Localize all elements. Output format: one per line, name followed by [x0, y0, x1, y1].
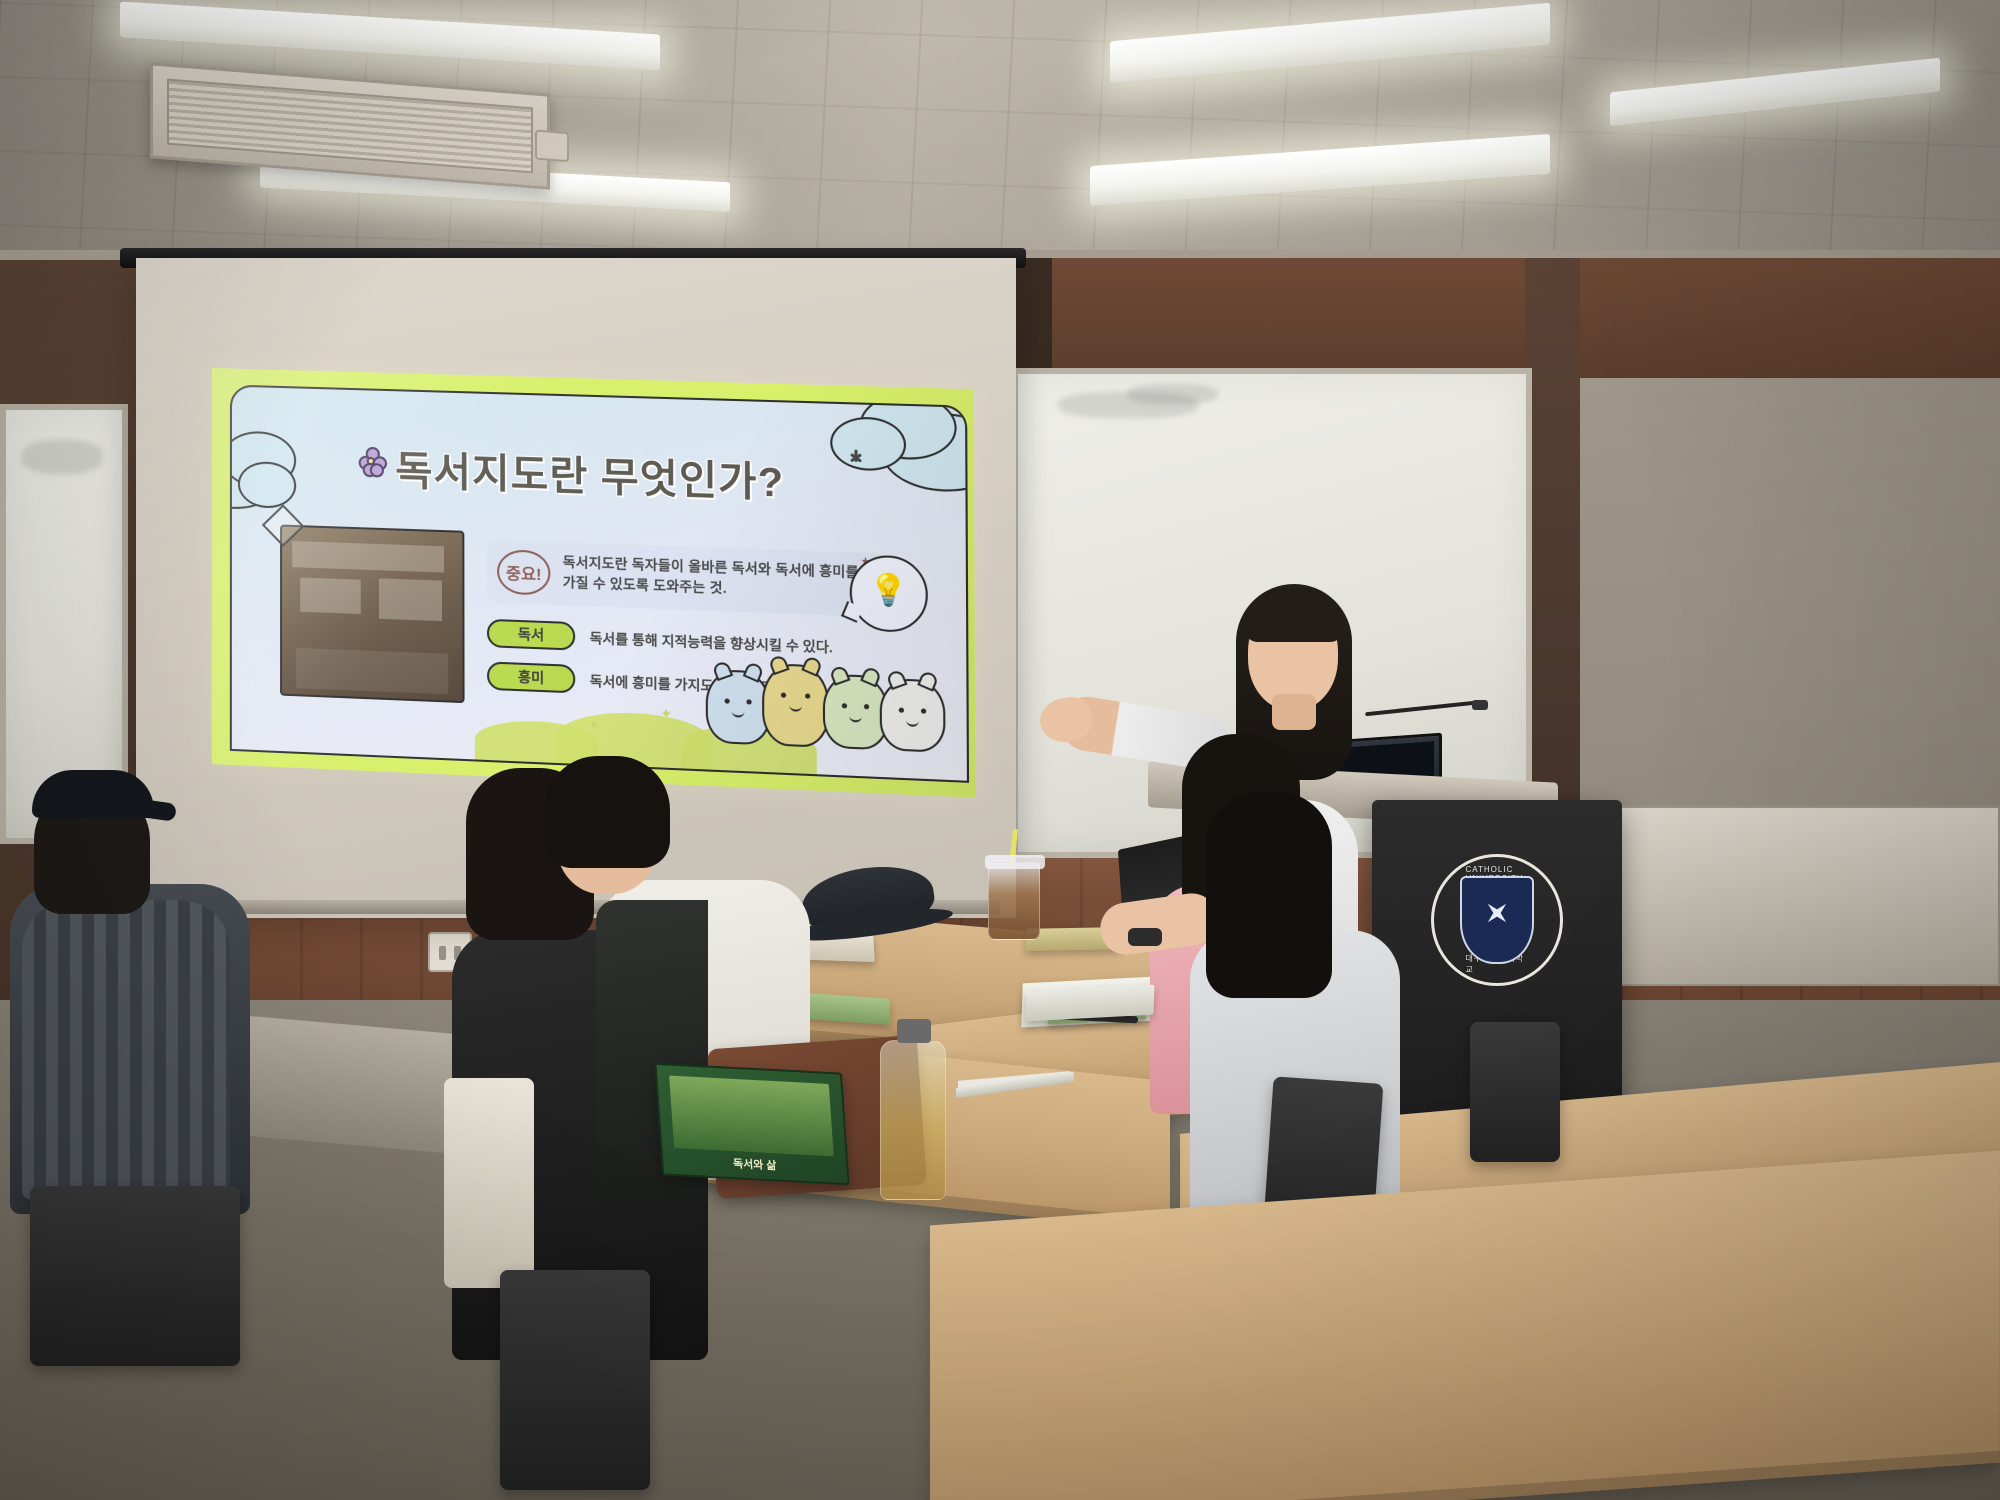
- presenter-bangs: [1244, 588, 1344, 642]
- whiteboard-smudge: [1128, 384, 1218, 404]
- tote-bag: [444, 1078, 534, 1288]
- chair: [30, 1186, 240, 1366]
- whiteboard-smudge: [22, 440, 102, 474]
- bullet-pill-label: 흥미: [487, 661, 575, 693]
- important-stamp: 중요!: [497, 549, 550, 596]
- sparkle-icon: [843, 449, 870, 477]
- mascot-icon: [880, 678, 946, 753]
- green-book: 독서와 삶: [654, 1063, 849, 1186]
- slide-photo: [280, 524, 465, 703]
- student-white-tee-hair: [544, 756, 670, 868]
- definition-box: 중요! ★★ 독서지도란 독자들이 올바른 독서와 독서에 흥미를 가질 수 있…: [487, 540, 888, 618]
- lightbulb-icon: 💡: [869, 572, 909, 609]
- wood-wall-strip: [1040, 258, 2000, 378]
- presenter-neck: [1272, 694, 1316, 730]
- lecture-hall-photo: 독서지도란 무엇인가? 중요! ★★ 독서지도란 독자들이 올바른 독서와 독서…: [0, 0, 2000, 1500]
- bullet-pill-label: 독서: [487, 619, 575, 651]
- crest-shield: [1460, 876, 1534, 964]
- vent-grille: [167, 79, 533, 174]
- wrist-watch: [1128, 928, 1162, 946]
- chair: [500, 1270, 650, 1490]
- mascot-characters: [706, 644, 948, 753]
- slide-title: 독서지도란 무엇인가?: [395, 438, 784, 509]
- student-striped-hair: [1206, 792, 1332, 998]
- cup-lid: [985, 855, 1045, 869]
- bottle-cap: [897, 1019, 931, 1043]
- mascot-icon: [762, 663, 829, 748]
- microphone-head: [1472, 700, 1488, 710]
- book-cover-art: [669, 1076, 834, 1157]
- projected-slide: 독서지도란 무엇인가? 중요! ★★ 독서지도란 독자들이 올바른 독서와 독서…: [212, 368, 976, 798]
- flower-icon: [359, 447, 387, 476]
- vent-knob: [535, 130, 569, 163]
- water-bottle: [880, 1040, 946, 1200]
- iced-drink-cup: [988, 862, 1040, 940]
- slide-content-panel: 독서지도란 무엇인가? 중요! ★★ 독서지도란 독자들이 올바른 독서와 독서…: [230, 385, 969, 783]
- side-cabinet: [1600, 806, 2000, 986]
- lightbulb-bubble: 💡: [850, 554, 928, 633]
- catholic-university-of-daegu-crest-icon: CATHOLIC UNIVERSITY OF DAEGU 대구가톨릭대학교: [1431, 854, 1563, 986]
- chair: [1470, 1022, 1560, 1162]
- student-left-plaid-shirt: [22, 900, 230, 1200]
- mascot-icon: [823, 674, 889, 751]
- mascot-icon: [706, 669, 771, 746]
- wood-column-right: [1525, 258, 1580, 818]
